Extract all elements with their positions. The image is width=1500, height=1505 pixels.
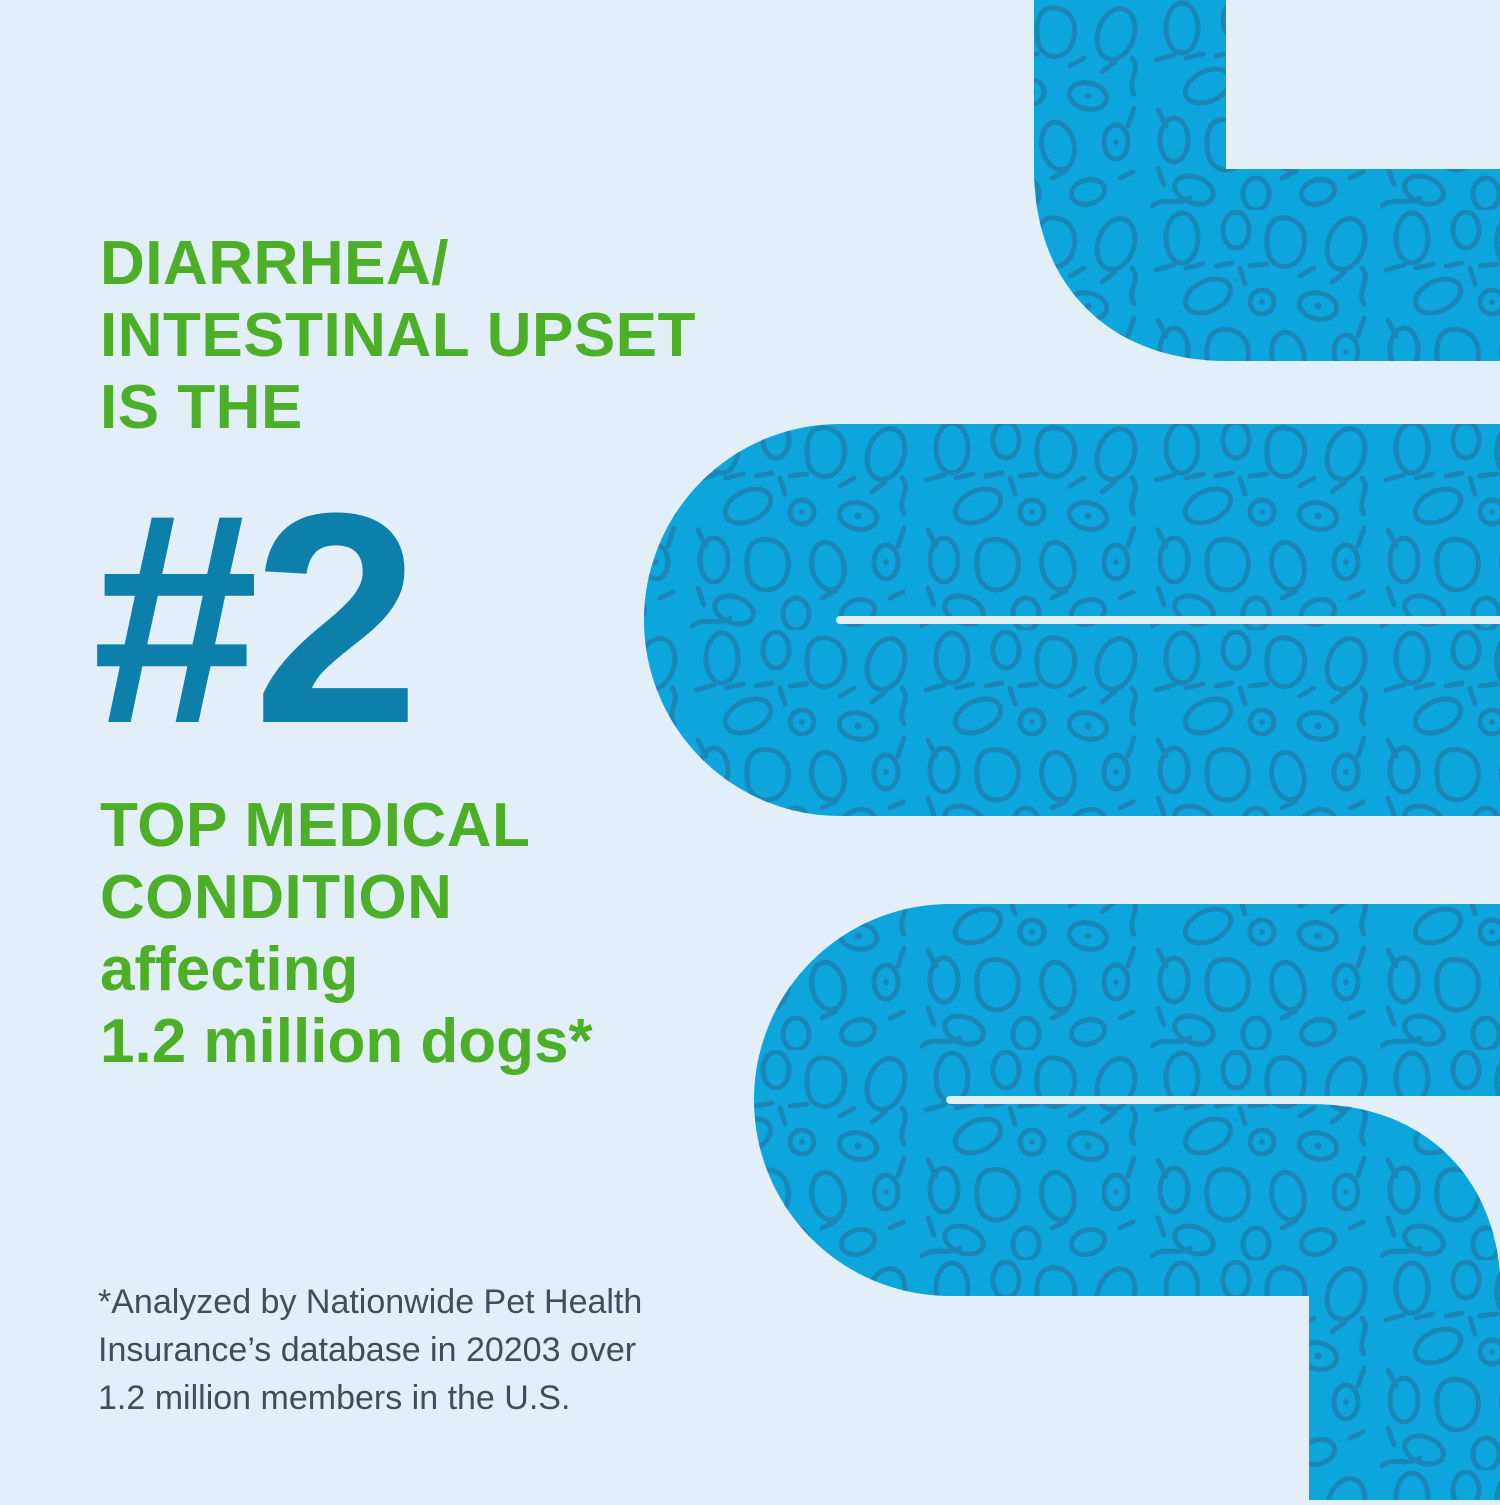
- text-column: DIARRHEA/ INTESTINAL UPSET IS THE #2 TOP…: [0, 0, 820, 1500]
- subhead-line-1: TOP MEDICAL: [100, 790, 800, 862]
- subhead: TOP MEDICAL CONDITION affecting 1.2 mill…: [100, 790, 800, 1078]
- footnote-line-1: *Analyzed by Nationwide Pet Health: [98, 1278, 818, 1326]
- subhead-line-2: CONDITION: [100, 862, 800, 934]
- headline-line-2: INTESTINAL UPSET: [100, 300, 800, 372]
- footnote: *Analyzed by Nationwide Pet Health Insur…: [98, 1278, 818, 1422]
- headline: DIARRHEA/ INTESTINAL UPSET IS THE: [100, 228, 800, 444]
- infographic-canvas: DIARRHEA/ INTESTINAL UPSET IS THE #2 TOP…: [0, 0, 1500, 1500]
- rank-number: #2: [92, 468, 414, 768]
- headline-line-1: DIARRHEA/: [100, 228, 800, 300]
- subhead-line-3: affecting: [100, 934, 800, 1006]
- subhead-line-4: 1.2 million dogs*: [100, 1006, 800, 1078]
- footnote-line-3: 1.2 million members in the U.S.: [98, 1374, 818, 1422]
- headline-line-3: IS THE: [100, 372, 800, 444]
- footnote-line-2: Insurance’s database in 20203 over: [98, 1326, 818, 1374]
